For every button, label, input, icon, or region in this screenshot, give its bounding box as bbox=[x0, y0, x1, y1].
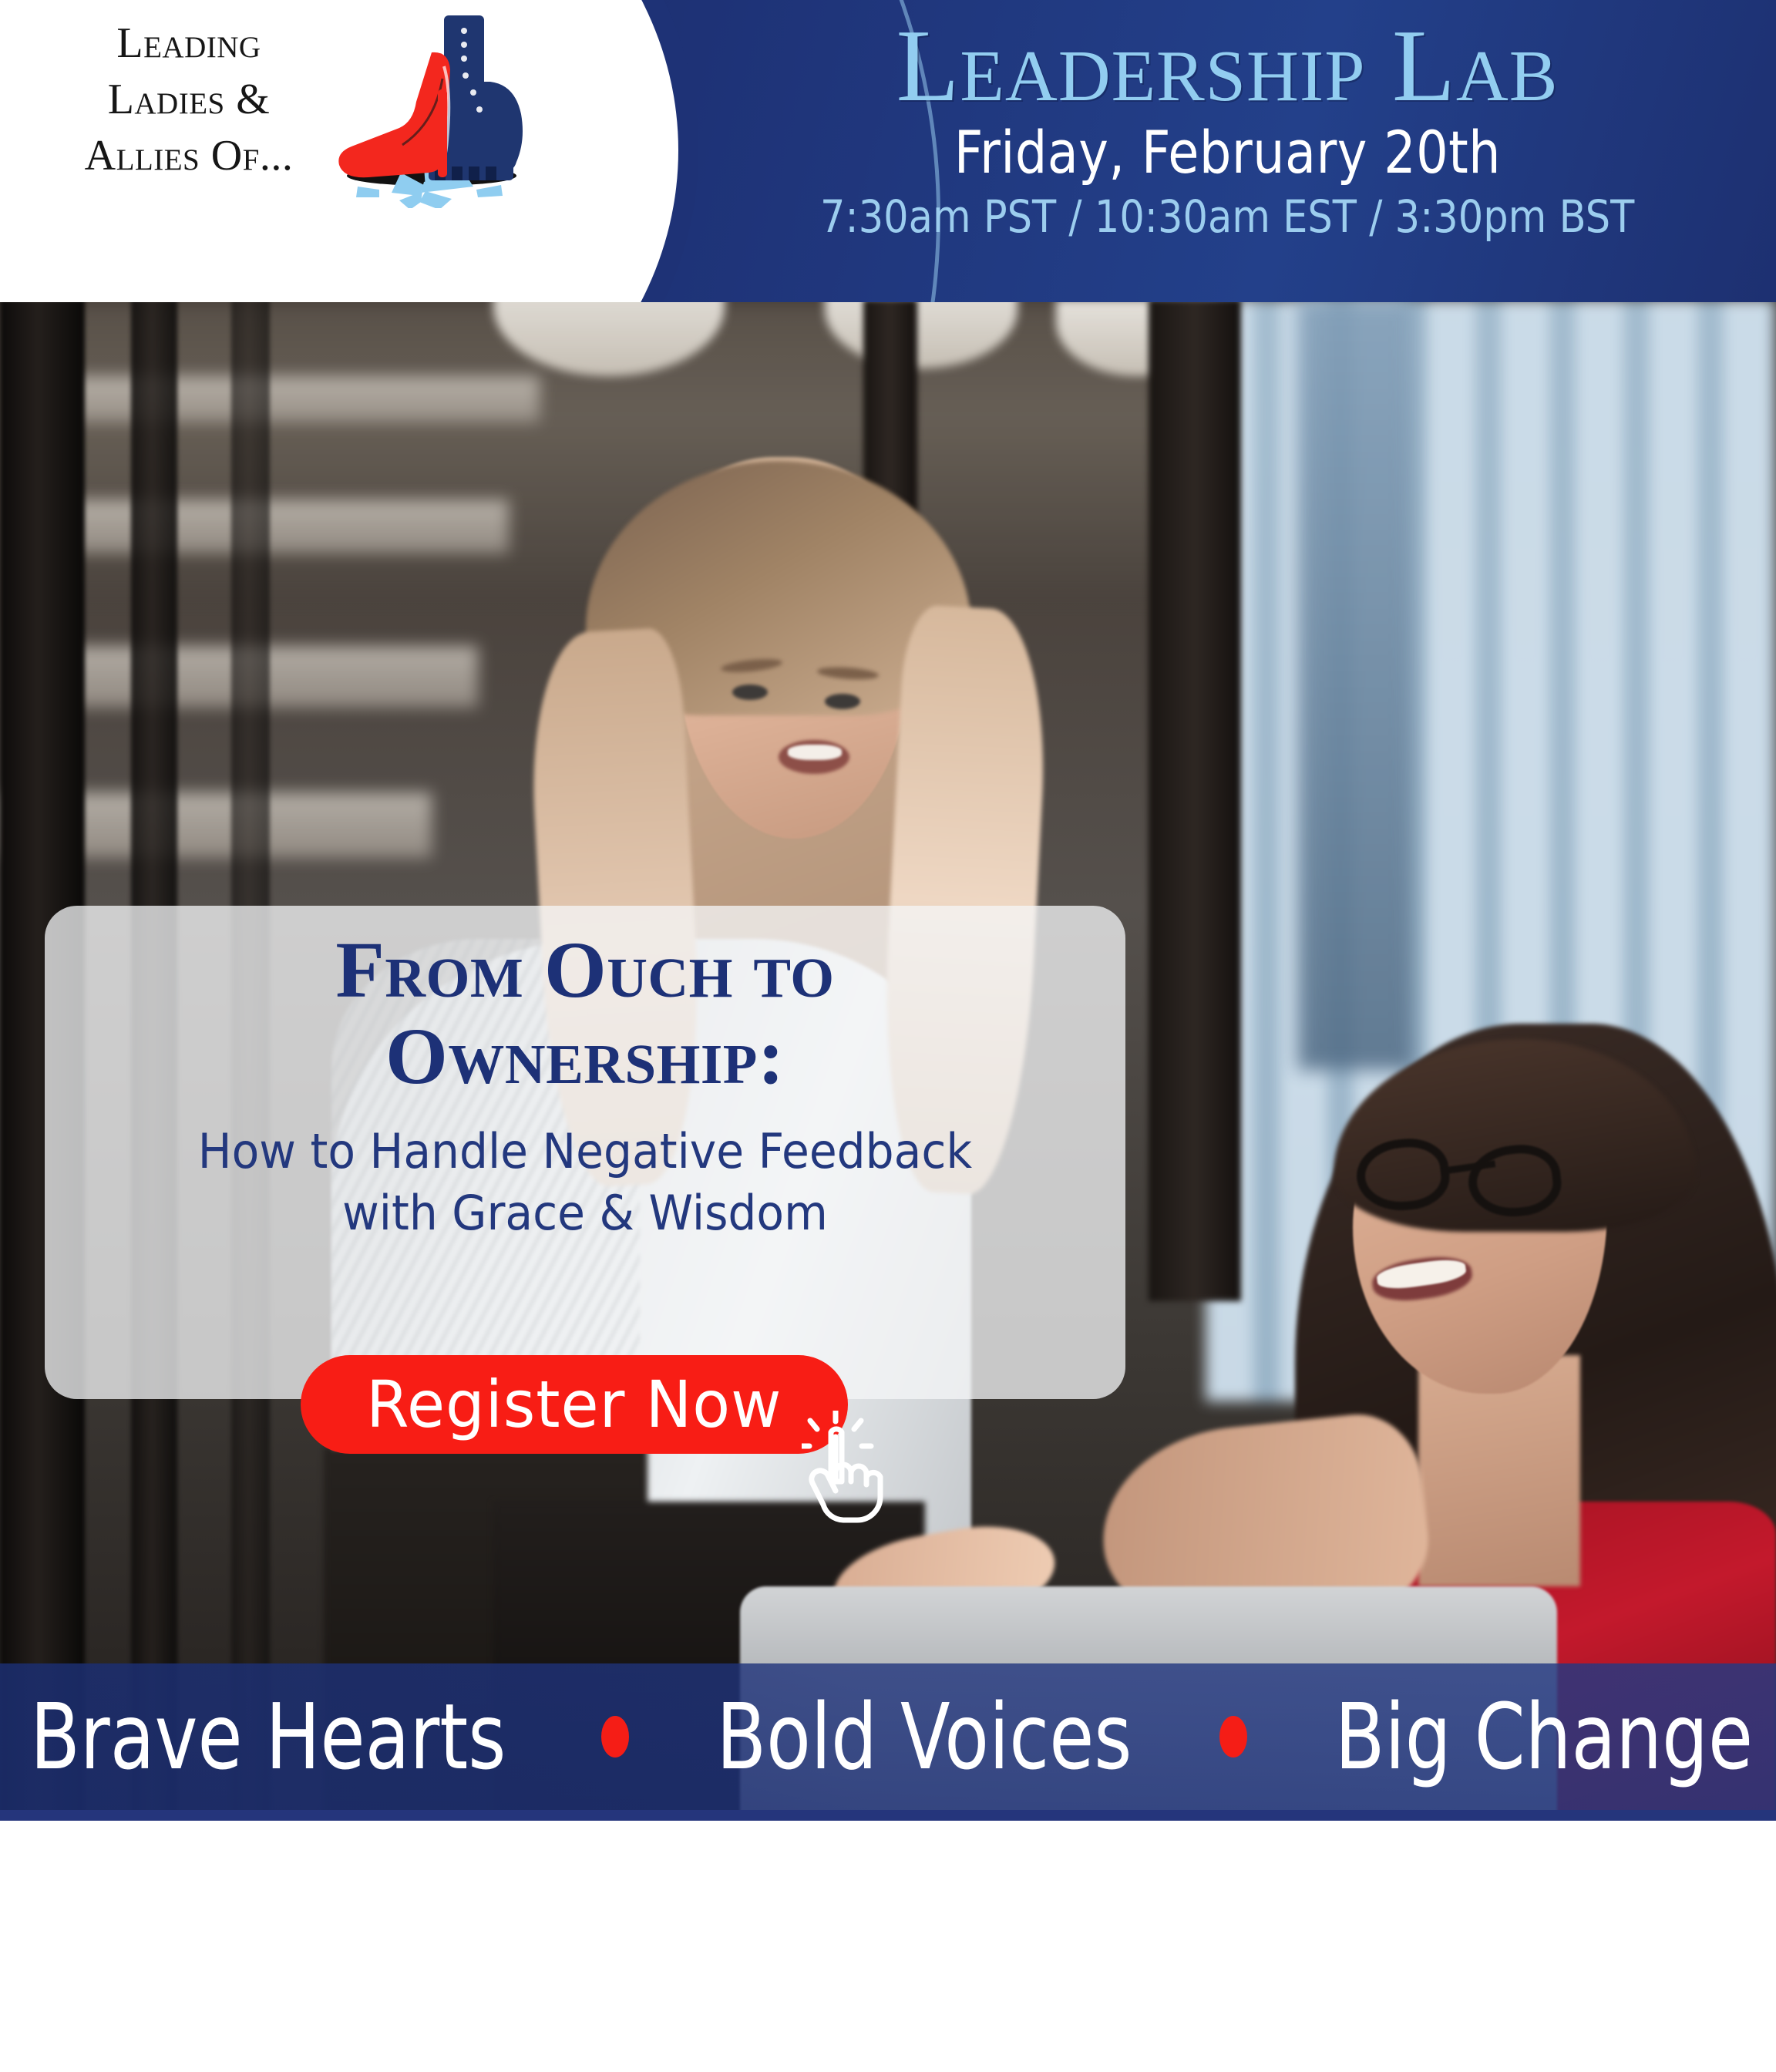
brand-logo-text: Leading Ladies & Allies Of... bbox=[23, 15, 355, 183]
event-date: Friday, February 20th bbox=[954, 122, 1500, 183]
sponsors-section: Thank You Annual Sponsors StandardAero L… bbox=[0, 1821, 1776, 2072]
event-poster: Leading Ladies & Allies Of... bbox=[0, 0, 1776, 2072]
register-now-label: Register Now bbox=[366, 1367, 782, 1442]
tagline-banner: Brave Hearts Bold Voices Big Change bbox=[0, 1663, 1776, 1810]
tagline-word-1: Brave Hearts bbox=[30, 1683, 506, 1790]
brand-line-2: Ladies & bbox=[23, 72, 355, 128]
tagline-word-2: Bold Voices bbox=[716, 1683, 1132, 1790]
session-title-line-2: Ownership: bbox=[99, 1014, 1071, 1100]
tagline-separator-dot bbox=[601, 1716, 629, 1757]
event-title: Leadership Lab bbox=[896, 14, 1559, 117]
event-times: 7:30am PST / 10:30am EST / 3:30pm BST bbox=[820, 193, 1634, 242]
brand-logo-bubble: Leading Ladies & Allies Of... bbox=[0, 0, 678, 302]
poster-header: Leading Ladies & Allies Of... bbox=[0, 0, 1776, 302]
header-event-info: Leadership Lab Friday, February 20th 7:3… bbox=[678, 0, 1776, 302]
brand-line-3: Allies Of... bbox=[23, 128, 355, 184]
tagline-word-3: Big Change bbox=[1335, 1683, 1753, 1790]
session-subtitle: How to Handle Negative Feedback with Gra… bbox=[121, 1121, 1048, 1245]
hand-pointer-click-icon bbox=[802, 1411, 894, 1526]
session-title: From Ouch to Ownership: bbox=[99, 927, 1071, 1101]
session-subtitle-line-1: How to Handle Negative Feedback bbox=[121, 1121, 1048, 1183]
high-heel-and-combat-boot-icon bbox=[308, 8, 540, 208]
tagline-bottom-strip bbox=[0, 1810, 1776, 1821]
register-now-button[interactable]: Register Now bbox=[301, 1355, 848, 1454]
session-subtitle-line-2: with Grace & Wisdom bbox=[121, 1182, 1048, 1245]
session-title-line-1: From Ouch to bbox=[99, 927, 1071, 1014]
tagline-separator-dot bbox=[1219, 1716, 1247, 1757]
session-title-card: From Ouch to Ownership: How to Handle Ne… bbox=[45, 906, 1125, 1399]
brand-logo: Leading Ladies & Allies Of... bbox=[0, 0, 678, 302]
brand-line-1: Leading bbox=[23, 15, 355, 72]
